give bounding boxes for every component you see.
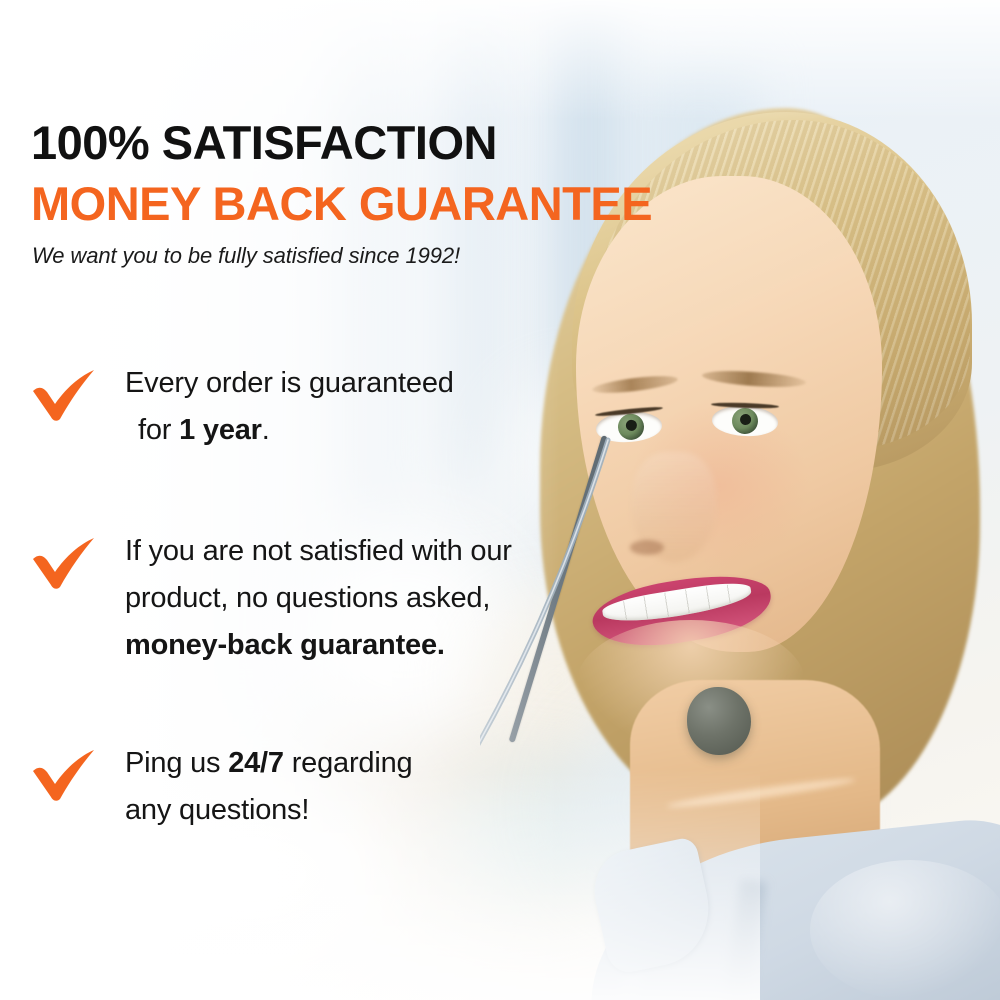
line-suffix: .	[262, 414, 270, 446]
nostril	[630, 540, 664, 555]
line-prefix: for	[138, 414, 179, 446]
list-item-line-emphasis: money-back guarantee.	[125, 622, 605, 669]
check-mark-icon	[30, 746, 96, 804]
guarantee-banner: 100% SATISFACTION MONEY BACK GUARANTEE W…	[0, 0, 1000, 1000]
line-prefix: Ping us	[125, 747, 228, 779]
list-item-line: product, no questions asked,	[125, 575, 605, 622]
list-item-line: for 1 year.	[125, 407, 605, 454]
list-item-line: any questions!	[125, 787, 605, 834]
list-item-line: Every order is guaranteed	[125, 360, 605, 407]
guarantee-list: Every order is guaranteed for 1 year. If…	[0, 0, 620, 1000]
line-suffix: regarding	[284, 747, 413, 779]
list-item-text: If you are not satisfied with our produc…	[125, 528, 605, 669]
check-mark-icon	[30, 366, 96, 424]
list-item-text: Ping us 24/7 regarding any questions!	[125, 740, 605, 834]
list-item-line: Ping us 24/7 regarding	[125, 740, 605, 787]
headset-microphone-icon	[687, 687, 751, 755]
list-item-line: If you are not satisfied with our	[125, 528, 605, 575]
check-mark-icon	[30, 534, 96, 592]
emphasis-text: 24/7	[228, 747, 284, 779]
list-item-text: Every order is guaranteed for 1 year.	[125, 360, 605, 454]
shoulder-highlight	[810, 860, 1000, 1000]
emphasis-text: 1 year	[179, 414, 262, 446]
